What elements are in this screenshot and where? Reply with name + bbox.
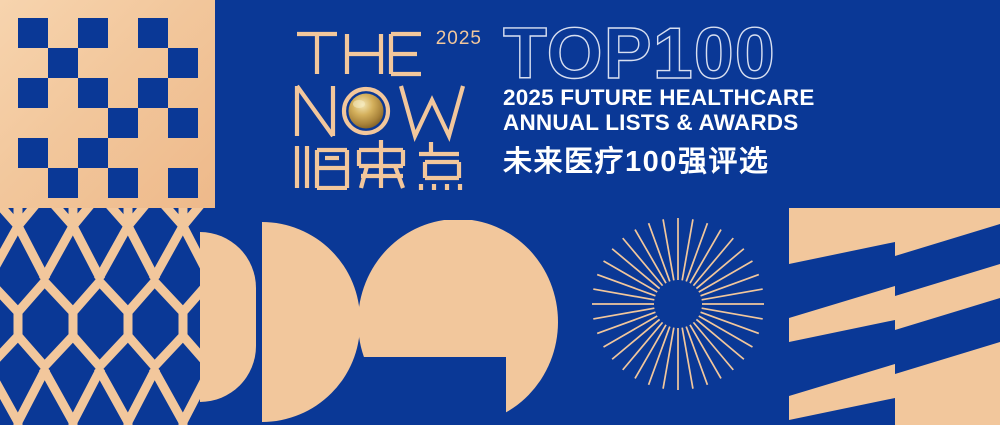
logo-lockup: 2025 <box>291 20 481 190</box>
headline-top100: TOP100 <box>503 23 848 86</box>
notched-circle <box>358 220 558 425</box>
starburst-ray <box>593 308 654 319</box>
checkerboard-grid <box>18 18 198 198</box>
checker-cell <box>168 108 198 138</box>
starburst-svg <box>592 218 764 390</box>
hexagon-lattice-svg <box>0 208 215 425</box>
checkerboard-pattern <box>0 0 215 208</box>
starburst-ray <box>663 328 674 389</box>
starburst-ray <box>702 289 763 300</box>
gold-orb-icon <box>349 94 384 129</box>
checker-cell <box>168 48 198 78</box>
logo-year: 2025 <box>436 28 482 50</box>
checker-cell <box>78 138 108 168</box>
diagonal-stripes <box>789 208 1000 425</box>
checker-cell <box>138 78 168 108</box>
subtitle-line-2: ANNUAL LISTS & AWARDS <box>503 111 848 136</box>
starburst-ray <box>663 219 674 280</box>
starburst-ray <box>682 328 693 389</box>
subtitle-chinese: 未来医疗100强评选 <box>503 138 848 180</box>
checker-cell <box>108 108 138 138</box>
checker-cell <box>48 48 78 78</box>
half-circle-small <box>200 232 256 402</box>
checker-cell <box>138 18 168 48</box>
radial-starburst <box>592 218 764 390</box>
checker-cell <box>78 78 108 108</box>
checker-cell <box>78 18 108 48</box>
starburst-ray <box>593 289 654 300</box>
banner-root: 2025 TOP100 2025 FUTURE HEALTHCARE ANNUA… <box>0 0 1000 425</box>
checker-cell <box>18 18 48 48</box>
checker-cell <box>48 168 78 198</box>
half-circle-large <box>262 222 360 422</box>
checker-cell <box>168 168 198 198</box>
title-block: TOP100 2025 FUTURE HEALTHCARE ANNUAL LIS… <box>503 23 848 180</box>
gold-orb-highlight <box>353 100 365 108</box>
checker-cell <box>18 78 48 108</box>
subtitle-line-1: 2025 FUTURE HEALTHCARE <box>503 86 848 111</box>
checker-cell <box>18 138 48 168</box>
notched-circle-svg <box>358 220 558 425</box>
starburst-ray <box>682 219 693 280</box>
diagonal-stripes-svg <box>789 208 1000 425</box>
checker-cell <box>108 168 138 198</box>
starburst-ray <box>702 308 763 319</box>
hexagon-lattice-pattern <box>0 208 215 425</box>
